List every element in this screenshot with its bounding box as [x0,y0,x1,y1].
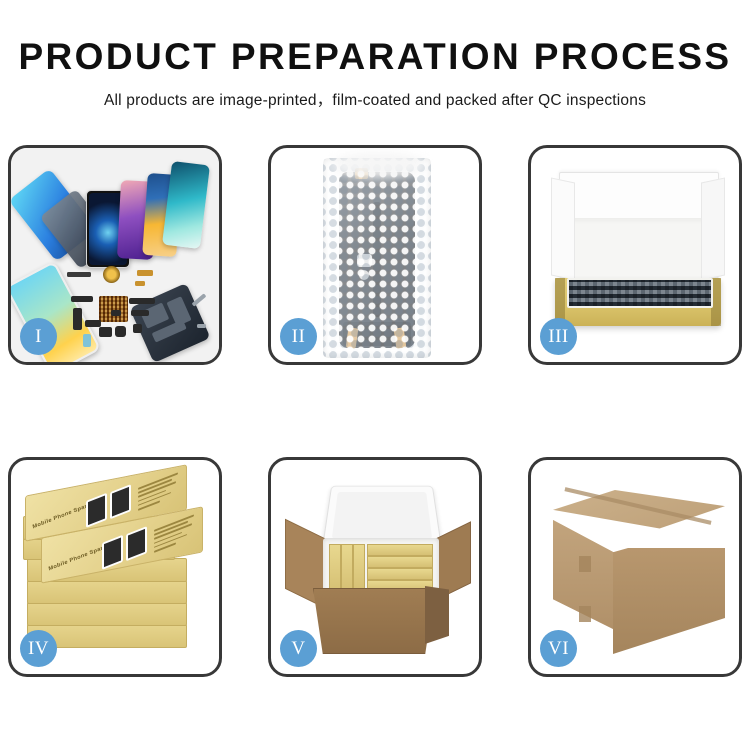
spare-part-icon [135,281,145,286]
box-tray-icon [555,278,721,326]
steps-grid: I [0,145,750,677]
stacked-box-icon [27,602,187,626]
carton-tape-icon [579,556,591,572]
step-panel-3: III [528,145,742,365]
box-flap-right-icon [701,177,725,280]
step-panel-4: Mobile Phone Spare Parts Mobile Phone Sp… [8,457,222,677]
spare-part-icon [133,324,142,333]
step-badge-1: I [20,318,57,355]
carton-side-icon [425,586,449,644]
bag-seal-icon [333,152,425,178]
product-preparation-infographic: PRODUCT PREPARATION PROCESS All products… [0,0,750,750]
spare-part-icon [85,320,101,327]
spare-part-icon [73,308,82,330]
open-kraft-box [549,166,727,346]
phone-open-chassis-icon [129,283,210,362]
step-badge-5: V [280,630,317,667]
header: PRODUCT PREPARATION PROCESS All products… [0,38,750,110]
spare-part-icon [71,296,93,302]
spare-part-icon [83,334,91,347]
spare-part-icon [129,298,155,304]
spare-part-icon [137,270,153,276]
step-badge-6: VI [540,630,577,667]
foam-sheet-icon [569,218,707,286]
step-panel-6: VI [528,457,742,677]
steps-row-bottom: Mobile Phone Spare Parts Mobile Phone Sp… [0,457,750,677]
step-panel-5: V [268,457,482,677]
screwdriver-tip-icon [197,324,206,328]
bubble-wrap-contents-icon [567,278,713,308]
bubble-wrap-icon [323,158,431,358]
step-badge-4: IV [20,630,57,667]
carton-front-icon [313,588,435,654]
bubble-wrap-bag [323,158,431,358]
spare-part-icon [67,272,91,277]
page-title: PRODUCT PREPARATION PROCESS [0,38,750,77]
sealed-carton [553,490,725,650]
step-panel-2: II [268,145,482,365]
taptic-coil-part-icon [103,266,120,283]
steps-row-top: I [0,145,750,365]
screw-matrix-part-icon [99,296,128,322]
spare-part-icon [111,310,121,316]
spare-part-icon [115,326,126,337]
packed-carton [285,476,471,662]
carton-right-face-icon [613,548,725,654]
page-subtitle: All products are image-printed，film-coat… [0,88,750,110]
spare-part-icon [99,327,112,337]
box-flap-left-icon [551,177,575,280]
step-badge-2: II [280,318,317,355]
carton-tape-icon [579,606,591,622]
step-badge-3: III [540,318,577,355]
tweezers-icon [192,293,207,306]
spare-part-icon [131,310,149,316]
stacked-box-icon [27,580,187,604]
step-panel-1: I [8,145,222,365]
